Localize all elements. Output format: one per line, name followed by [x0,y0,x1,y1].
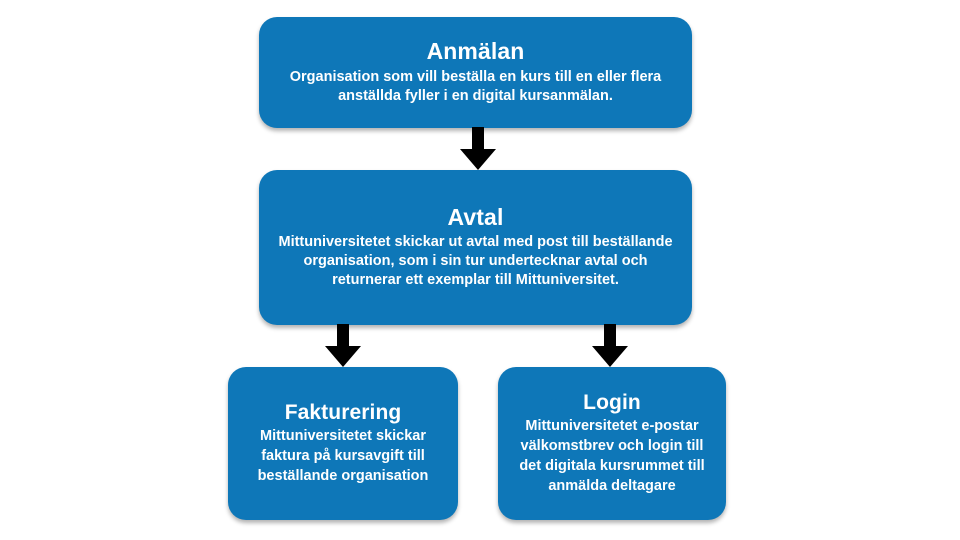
flow-node-fakturering: Fakturering Mittuniversitetet skickar fa… [228,367,458,520]
arrow-down-icon [458,127,498,171]
flow-node-title: Login [583,391,641,415]
flow-node-login: Login Mittuniversitetet e-postar välkoms… [498,367,726,520]
flow-node-description: Mittuniversitetet e-postar välkomstbrev … [512,416,712,496]
flow-node-anmalan: Anmälan Organisation som vill beställa e… [259,17,692,128]
flow-node-title: Anmälan [427,39,525,65]
flowchart-canvas: Anmälan Organisation som vill beställa e… [0,0,960,540]
arrow-down-icon [590,324,630,368]
arrow-down-icon [323,324,363,368]
flow-node-avtal: Avtal Mittuniversitetet skickar ut avtal… [259,170,692,325]
flow-node-title: Avtal [448,205,504,231]
flow-node-description: Mittuniversitetet skickar faktura på kur… [242,426,444,486]
flow-node-description: Mittuniversitetet skickar ut avtal med p… [273,233,678,290]
flow-node-title: Fakturering [285,401,402,425]
flow-node-description: Organisation som vill beställa en kurs t… [273,68,678,106]
